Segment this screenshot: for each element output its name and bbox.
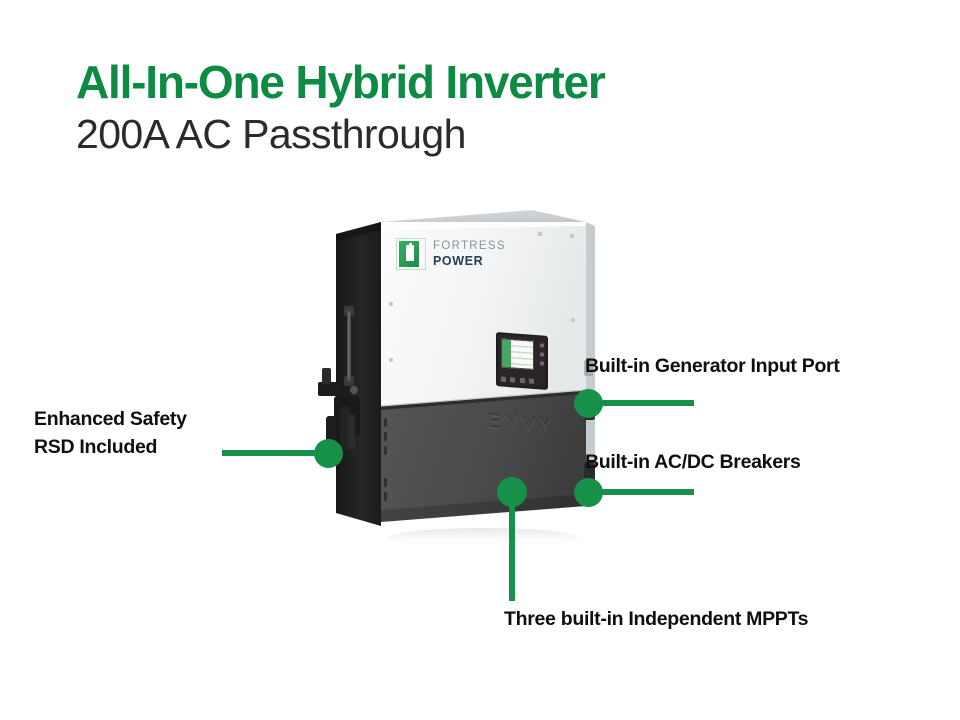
leader-dot-mppts — [497, 477, 527, 507]
page-title: All-In-One Hybrid Inverter — [76, 58, 605, 106]
logo-line-2: POWER — [433, 255, 506, 268]
leader-dot-enhanced-safety — [314, 439, 343, 468]
page-subtitle: 200A AC Passthrough — [76, 112, 605, 158]
leader-line-enhanced-safety — [222, 450, 322, 456]
product-shadow — [388, 528, 578, 548]
leader-dot-generator-input — [574, 389, 603, 418]
callout-enhanced-safety-line2: RSD Included — [34, 433, 187, 461]
callout-enhanced-safety: Enhanced Safety RSD Included — [34, 405, 187, 462]
battery-logo-icon — [396, 238, 426, 270]
lcd-display-icon — [496, 332, 548, 390]
callout-mppts: Three built-in Independent MPPTs — [504, 605, 808, 633]
leader-line-acdc-breakers — [594, 489, 694, 495]
callout-acdc-breakers: Built-in AC/DC Breakers — [585, 448, 801, 476]
fortress-power-logo: FORTRESS POWER — [396, 238, 506, 270]
leader-dot-acdc-breakers — [574, 478, 603, 507]
callout-enhanced-safety-line1: Enhanced Safety — [34, 405, 187, 433]
infographic-canvas: All-In-One Hybrid Inverter 200A AC Passt… — [0, 0, 960, 720]
model-emboss-label: ENVY — [487, 410, 555, 438]
inverter-side-panel — [336, 222, 381, 526]
callout-generator-input: Built-in Generator Input Port — [585, 352, 840, 380]
headline-block: All-In-One Hybrid Inverter 200A AC Passt… — [76, 58, 605, 158]
leader-line-mppts — [509, 495, 515, 601]
leader-line-generator-input — [594, 400, 694, 406]
logo-line-1: FORTRESS — [433, 241, 506, 253]
